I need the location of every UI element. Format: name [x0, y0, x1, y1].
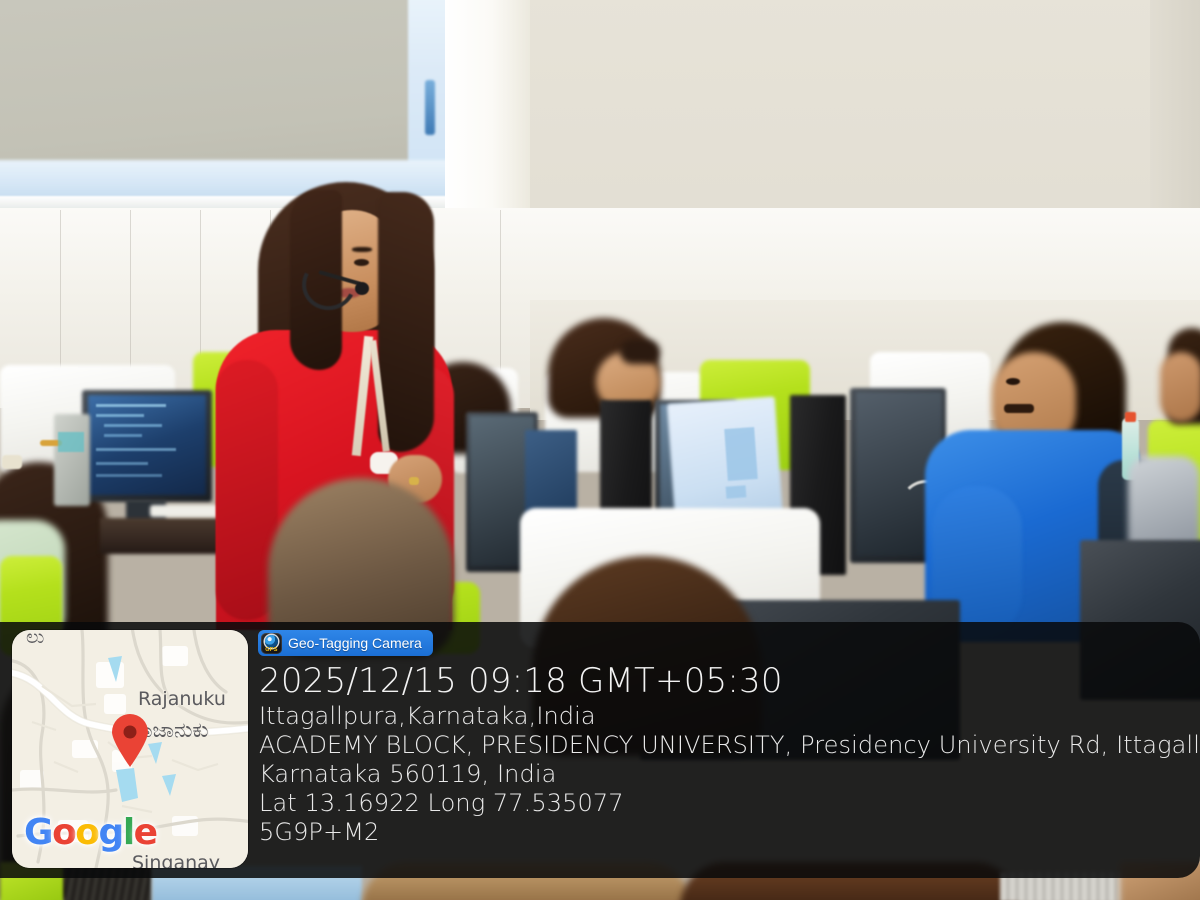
google-letter-o1: o — [52, 812, 75, 853]
monitor-screen — [88, 395, 206, 495]
address-line-latlong: Lat 13.16922 Long 77.535077 — [259, 789, 1189, 818]
google-letter-g: G — [24, 812, 52, 853]
code-line — [104, 434, 142, 437]
map-pin-icon — [110, 714, 150, 768]
address-line-locality: Ittagallpura,Karnataka,India — [259, 702, 1189, 731]
attendee-hairline — [620, 340, 660, 364]
address-line-region: Karnataka 560119, India — [259, 760, 1189, 789]
window-blind — [0, 0, 425, 180]
presenter-hair-right — [378, 192, 434, 452]
window-blue-detail — [425, 80, 435, 135]
presenter-eye — [354, 259, 369, 266]
timestamp-text: 2025/12/15 09:18 GMT+05:30 — [259, 660, 1189, 702]
google-letter-e: e — [134, 812, 157, 853]
code-line — [96, 404, 166, 407]
code-line — [96, 462, 148, 465]
geo-info-block: 2025/12/15 09:18 GMT+05:30 Ittagallpura,… — [259, 660, 1189, 847]
code-line — [96, 474, 162, 477]
map-thumbnail[interactable]: ಲು Rajanuku ರಾಜಾನುಕು Singanay Google — [12, 630, 248, 868]
address-line-street: ACADEMY BLOCK, PRESIDENCY UNIVERSITY, Pr… — [259, 731, 1189, 760]
code-line — [104, 424, 162, 427]
map-label-kannada-top: ಲು — [26, 630, 44, 648]
window-pillar — [445, 0, 530, 220]
attendee-face — [1160, 352, 1200, 422]
gps-camera-icon: GPS — [261, 633, 282, 654]
google-letter-l: l — [123, 812, 134, 853]
google-logo: Google — [24, 812, 157, 853]
hair-clip — [2, 455, 22, 469]
moustache — [1004, 404, 1034, 413]
google-letter-g2: g — [99, 812, 123, 853]
eye — [1006, 378, 1020, 385]
headset-mic-icon — [355, 282, 369, 295]
desktop-tower — [54, 414, 90, 506]
address-line-pluscode: 5G9P+M2 — [259, 818, 1189, 847]
tower-detail — [58, 432, 84, 452]
map-label-singanayakanahalli: Singanay — [132, 852, 220, 868]
bottle-cap — [1125, 412, 1136, 422]
presenter-eyebrow — [352, 247, 372, 252]
google-letter-o2: o — [75, 812, 98, 853]
geo-tagging-camera-badge[interactable]: GPS Geo-Tagging Camera — [258, 630, 433, 656]
screen-content — [726, 485, 747, 498]
screenshot-root: ಲು Rajanuku ರಾಜಾನುಕು Singanay Google GPS — [0, 0, 1200, 900]
code-line — [96, 448, 176, 451]
ring — [409, 477, 419, 485]
badge-label: Geo-Tagging Camera — [288, 636, 422, 650]
map-label-rajanukunte-en: Rajanuku — [138, 688, 226, 710]
screen-content — [724, 427, 758, 481]
gps-icon-label: GPS — [261, 647, 282, 653]
code-line — [96, 414, 144, 417]
